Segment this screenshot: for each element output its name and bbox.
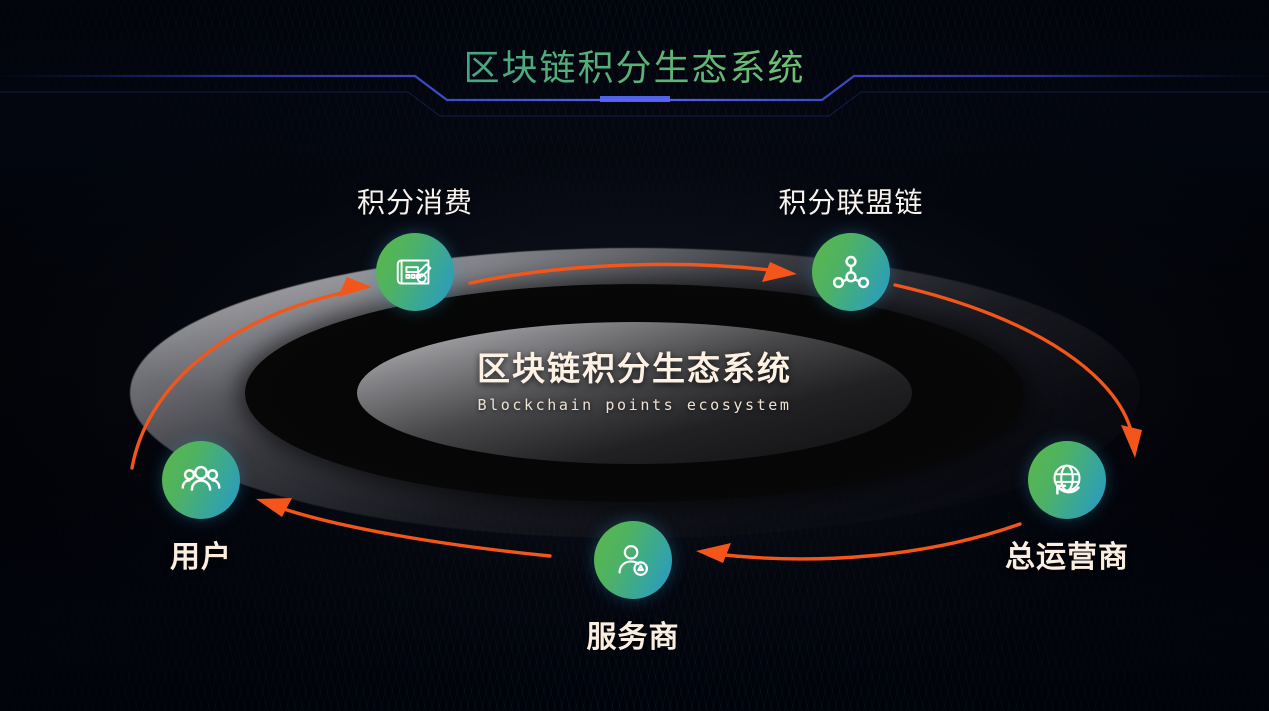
header-line-secondary: [0, 92, 1269, 116]
node-chain[interactable]: 积分联盟链: [772, 181, 930, 311]
node-consume-circle[interactable]: [376, 233, 454, 311]
header-line-accent: [600, 96, 670, 102]
node-provider[interactable]: 服务商: [552, 521, 714, 656]
user-group-icon: [178, 457, 224, 503]
node-provider-circle[interactable]: [594, 521, 672, 599]
node-operator-circle[interactable]: [1028, 441, 1106, 519]
node-provider-label: 服务商: [552, 612, 714, 656]
node-consume[interactable]: 积分消费: [336, 181, 494, 311]
node-operator-label: 总运营商: [986, 532, 1148, 576]
node-chain-label: 积分联盟链: [772, 181, 930, 221]
center-subtitle: Blockchain points ecosystem: [0, 396, 1269, 414]
node-user[interactable]: 用户: [120, 441, 282, 576]
user-badge-icon: [610, 537, 656, 583]
node-operator[interactable]: 总运营商: [986, 441, 1148, 576]
node-user-label: 用户: [120, 532, 282, 576]
network-nodes-icon: [828, 249, 874, 295]
node-chain-circle[interactable]: [812, 233, 890, 311]
node-user-circle[interactable]: [162, 441, 240, 519]
center-text-block: 区块链积分生态系统 Blockchain points ecosystem: [0, 350, 1269, 414]
globe-refresh-icon: [1044, 457, 1090, 503]
page-title: 区块链积分生态系统: [0, 39, 1269, 91]
center-title: 区块链积分生态系统: [0, 350, 1269, 388]
slide-canvas: 区块链积分生态系统 区块链积分生态系统 Blockchain points ec…: [0, 0, 1269, 711]
blueprint-document-icon: [392, 249, 438, 295]
node-consume-label: 积分消费: [336, 181, 494, 221]
